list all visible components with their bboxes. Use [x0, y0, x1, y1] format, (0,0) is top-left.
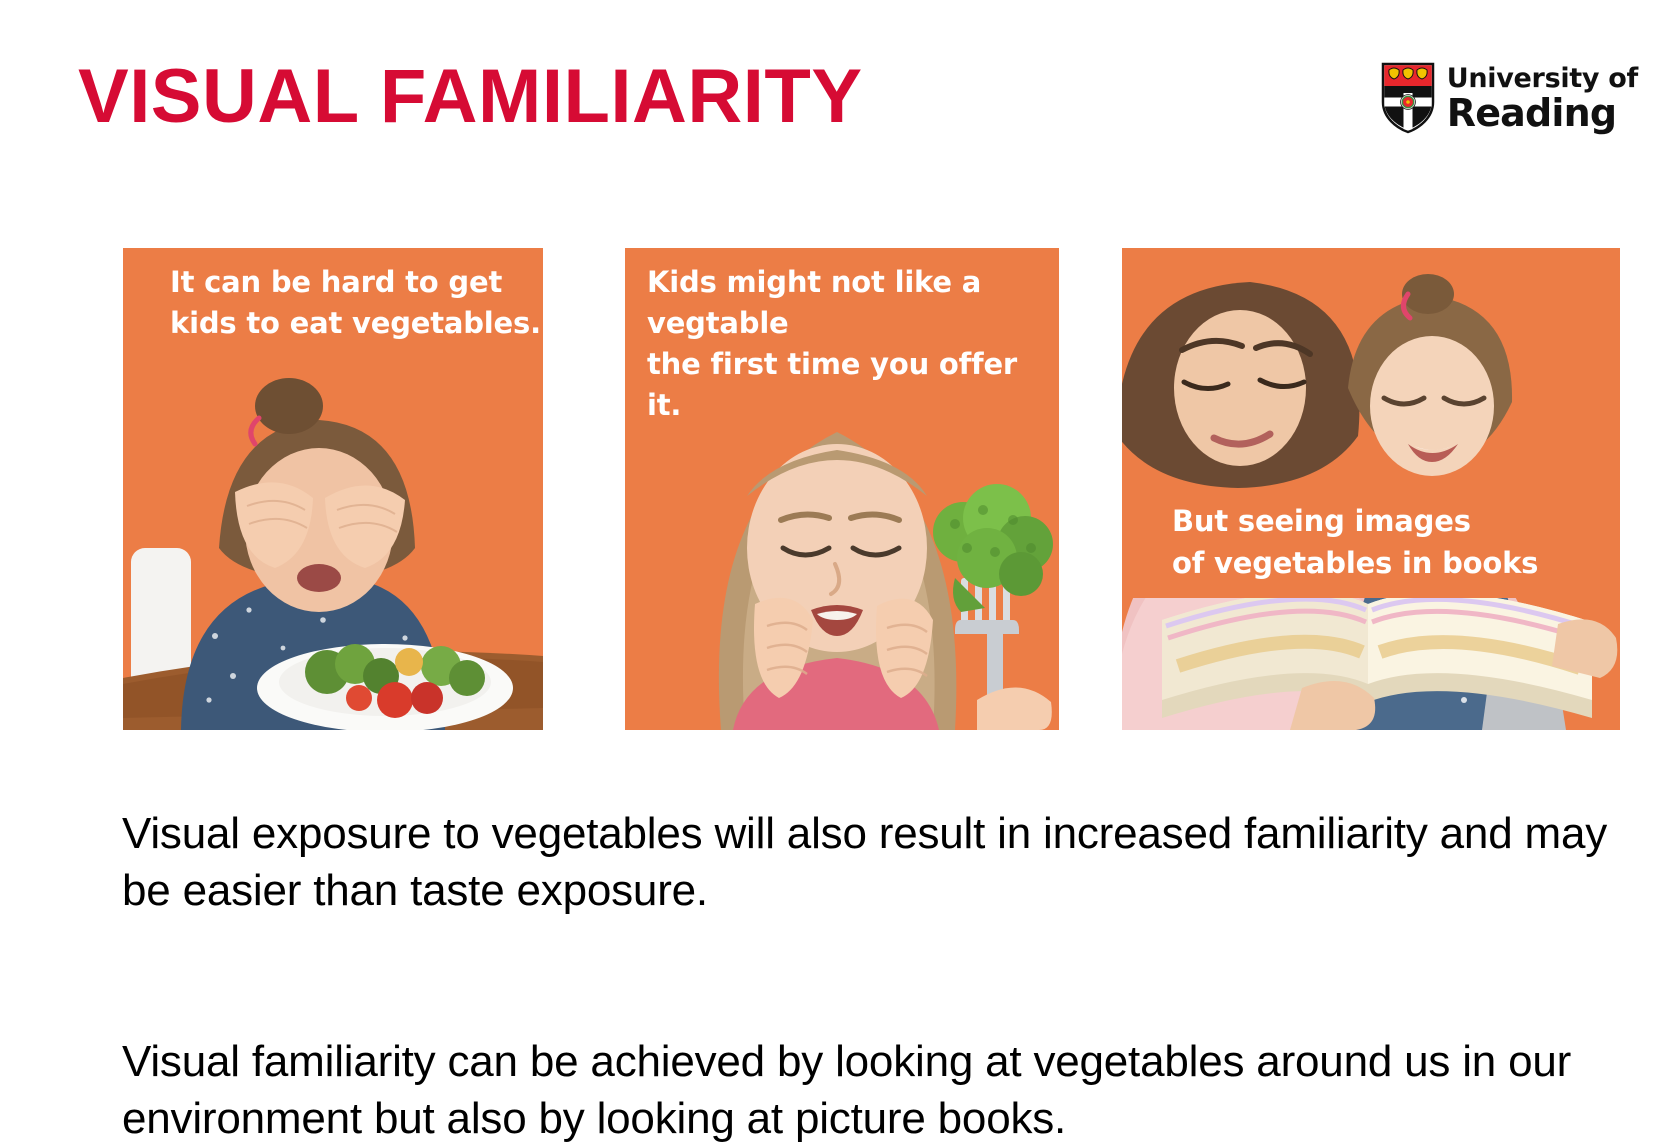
photo-strip: It can be hard to get kids to eat vegeta…: [0, 248, 1674, 730]
body-paragraph-1: Visual exposure to vegetables will also …: [122, 805, 1622, 919]
university-wordmark: University of Reading: [1447, 65, 1638, 132]
university-wordmark-line-2: Reading: [1447, 94, 1638, 132]
university-wordmark-line-1: University of: [1447, 65, 1638, 92]
page-title: VISUAL FAMILIARITY: [78, 56, 863, 138]
panel-caption: Kids might not like a vegtable the first…: [647, 262, 1059, 426]
university-crest-icon: [1381, 62, 1435, 134]
body-text-block: Visual exposure to vegetables will also …: [122, 805, 1622, 1147]
panel-caption: It can be hard to get kids to eat vegeta…: [170, 262, 541, 344]
panel-caption: But seeing images of vegetables in books: [1122, 488, 1564, 598]
body-paragraph-2: Visual familiarity can be achieved by lo…: [122, 1033, 1622, 1147]
photo-panel-first-time-offer: Kids might not like a vegtable the first…: [625, 248, 1059, 730]
university-of-reading-logo: University of Reading: [1381, 58, 1638, 138]
photo-panel-kids-eat-vegetables: It can be hard to get kids to eat vegeta…: [123, 248, 543, 730]
photo-panel-seeing-images-in-books: But seeing images of vegetables in books: [1122, 248, 1620, 730]
